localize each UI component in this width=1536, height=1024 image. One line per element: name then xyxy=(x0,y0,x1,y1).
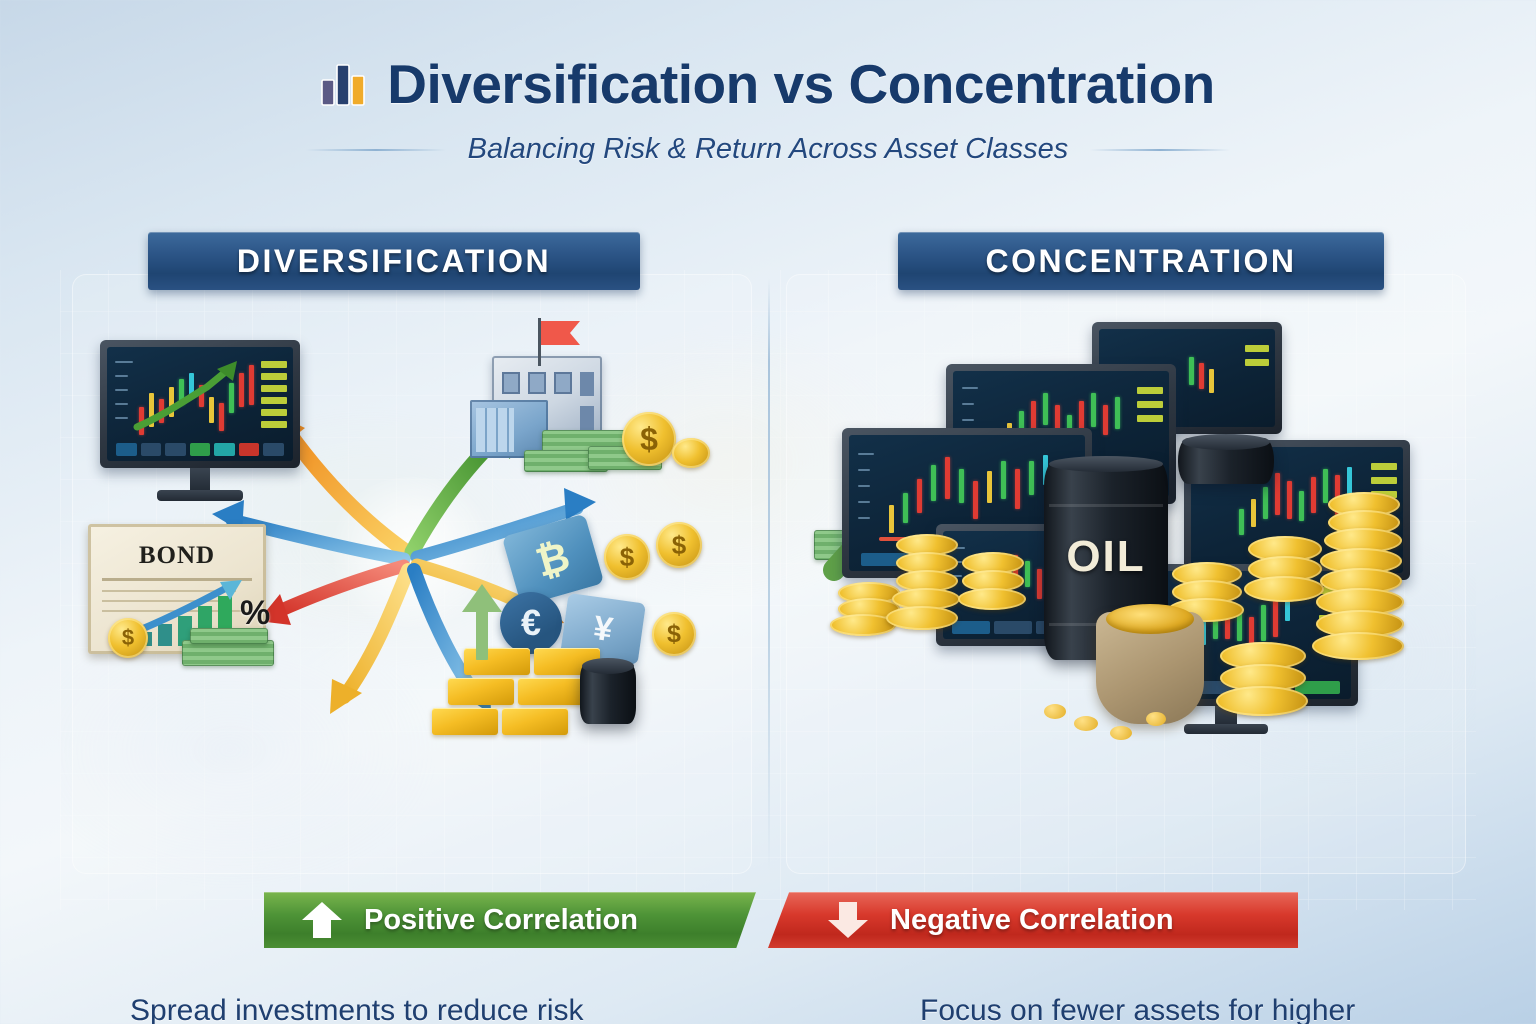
banner-label-concentration: CONCENTRATION xyxy=(986,243,1297,280)
footer-legend: Positive Correlation Negative Correlatio… xyxy=(0,892,1536,962)
negative-correlation-label: Negative Correlation xyxy=(890,904,1174,937)
banner-label-diversification: DIVERSIFICATION xyxy=(237,243,551,280)
nugget-4 xyxy=(1146,712,1166,726)
gold-up-arrow xyxy=(452,580,512,660)
sack-gold-nuggets xyxy=(1106,604,1194,634)
oil-barrel-small xyxy=(580,662,636,724)
banner-concentration: CONCENTRATION xyxy=(898,232,1384,290)
page-subtitle: Balancing Risk & Return Across Asset Cla… xyxy=(468,133,1069,166)
infographic-canvas: Diversification vs Concentration Balanci… xyxy=(0,0,1536,1024)
cash-stack-bond-2 xyxy=(190,628,268,644)
coin-stack-3c xyxy=(958,588,1026,610)
panel-area: DIVERSIFICATION CONCENTRATION xyxy=(0,232,1536,872)
title-row: Diversification vs Concentration xyxy=(0,52,1536,116)
caption-concentration: Focus on fewer assets for higher potenti… xyxy=(920,990,1410,1024)
nugget-3 xyxy=(1110,726,1132,740)
oil-barrel-label: OIL xyxy=(1044,532,1168,582)
coin-stack-7c xyxy=(1216,686,1308,716)
negative-correlation-banner[interactable]: Negative Correlation xyxy=(768,892,1298,948)
coin-stack-5c xyxy=(1244,576,1324,602)
subtitle-rule-right xyxy=(1090,149,1230,151)
positive-correlation-label: Positive Correlation xyxy=(364,904,638,937)
dollar-coin-fx-2: $ xyxy=(656,522,702,568)
page-title: Diversification vs Concentration xyxy=(387,52,1215,116)
header: Diversification vs Concentration Balanci… xyxy=(0,0,1536,200)
gold-bar-5 xyxy=(432,708,498,735)
stock-monitor xyxy=(100,340,300,468)
coin-stack-2e xyxy=(886,606,958,630)
arrow-up-icon xyxy=(300,900,344,940)
monitor-stand-neck xyxy=(190,468,210,492)
flag-icon xyxy=(534,318,586,366)
coin-stack-re xyxy=(672,438,710,468)
panel-divider xyxy=(768,278,770,874)
gold-nugget-sack xyxy=(1096,612,1204,724)
positive-correlation-banner[interactable]: Positive Correlation xyxy=(264,892,756,948)
dollar-coin-fx-1: $ xyxy=(604,534,650,580)
dollar-coin-bond: $ xyxy=(108,618,148,658)
bar-chart-icon xyxy=(321,62,367,106)
coin-stack-6h xyxy=(1312,632,1404,660)
subtitle-rule-left xyxy=(306,149,446,151)
dollar-coin-re: $ xyxy=(622,412,676,466)
gold-bar-4 xyxy=(518,678,584,705)
monitor-base-conc xyxy=(1184,724,1268,734)
banner-diversification: DIVERSIFICATION xyxy=(148,232,640,290)
oil-barrel-back xyxy=(1178,438,1274,484)
subtitle-row: Balancing Risk & Return Across Asset Cla… xyxy=(0,133,1536,166)
concentration-illustration: OIL xyxy=(786,312,1466,812)
nugget-1 xyxy=(1044,704,1066,719)
diversification-illustration: BOND % $ xyxy=(72,312,752,812)
nugget-2 xyxy=(1074,716,1098,731)
gold-bar-3 xyxy=(448,678,514,705)
dollar-coin-fx-3: $ xyxy=(652,612,696,656)
caption-diversification: Spread investments to reduce risk xyxy=(130,990,730,1024)
monitor-stand-base xyxy=(157,490,243,501)
gold-bar-6 xyxy=(502,708,568,735)
arrow-down-icon xyxy=(826,900,870,940)
bond-label: BOND xyxy=(139,542,215,570)
